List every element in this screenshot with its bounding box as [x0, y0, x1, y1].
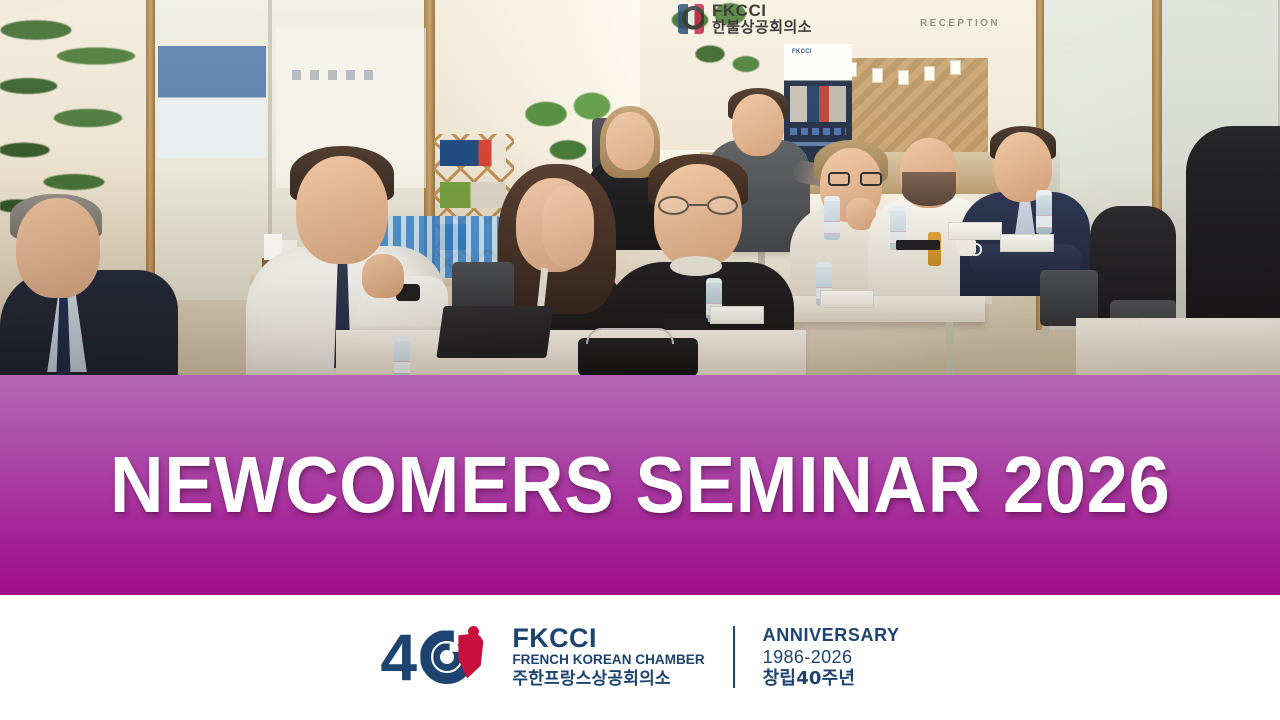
water-bottle: [394, 336, 410, 375]
paper-sheet: [1076, 318, 1142, 328]
wall-sign-line2: 한불상공회의소: [712, 20, 812, 36]
beard: [902, 172, 956, 206]
fkcci-wall-sign: FKCCI 한불상공회의소: [712, 2, 812, 36]
reception-sign: RECEPTION: [920, 18, 1000, 29]
fkcci-logo-icon: [678, 4, 704, 34]
anniversary-years: 1986-2026: [763, 647, 900, 669]
wall-sign-line1: FKCCI: [712, 2, 812, 20]
face: [542, 186, 594, 268]
title-wrapper: NEWCOMERS SEMINAR 2026: [0, 375, 1280, 595]
chamber-acronym: FKCCI: [512, 624, 704, 652]
coffee-mug: [956, 240, 976, 256]
name-card: [710, 306, 764, 324]
fkcci-40-anniversary-mark-icon: 4: [380, 626, 496, 688]
collar: [670, 256, 722, 276]
anniversary-label: ANNIVERSARY: [763, 625, 900, 647]
smartphone: [664, 318, 708, 328]
anniversary-label-ko: 창립40주년: [763, 668, 900, 690]
attendee-suit-man: [0, 150, 180, 375]
banner-heading: FKCCI: [792, 49, 812, 55]
name-card: [948, 222, 1002, 240]
page-title: NEWCOMERS SEMINAR 2026: [110, 439, 1170, 531]
head: [654, 164, 742, 268]
water-bottle: [824, 196, 840, 240]
event-poster: FKCCI 한불상공회의소 RECEPTION FKCCI: [0, 0, 1280, 720]
hand-on-chin: [362, 254, 404, 298]
name-card: [820, 290, 874, 308]
whiteboard-writing: [292, 70, 382, 80]
fkcci-logo-lockup: 4 FKCCI FRENCH KOREAN CHAMBER 주한프랑스상공회의소…: [380, 624, 899, 690]
glasses-icon: [658, 196, 738, 215]
chamber-name-en: FRENCH KOREAN CHAMBER: [512, 652, 704, 669]
logo-divider: [733, 626, 735, 688]
title-band: NEWCOMERS SEMINAR 2026: [0, 375, 1280, 595]
table-leg: [946, 322, 953, 375]
anniversary-block: ANNIVERSARY 1986-2026 창립40주년: [763, 625, 900, 691]
string-lights-icon: [846, 52, 976, 82]
laptop: [436, 306, 553, 358]
head: [296, 156, 388, 264]
chamber-name-ko: 주한프랑스상공회의소: [512, 669, 704, 690]
name-card: [1000, 234, 1054, 252]
handbag: [578, 338, 698, 375]
seminar-photo: FKCCI 한불상공회의소 RECEPTION FKCCI: [0, 0, 1280, 375]
head: [16, 198, 100, 298]
smartphone: [896, 240, 940, 250]
chamber-name-block: FKCCI FRENCH KOREAN CHAMBER 주한프랑스상공회의소: [512, 624, 704, 690]
water-bottle: [1036, 190, 1052, 234]
footer-logo-bar: 4 FKCCI FRENCH KOREAN CHAMBER 주한프랑스상공회의소…: [0, 595, 1280, 720]
